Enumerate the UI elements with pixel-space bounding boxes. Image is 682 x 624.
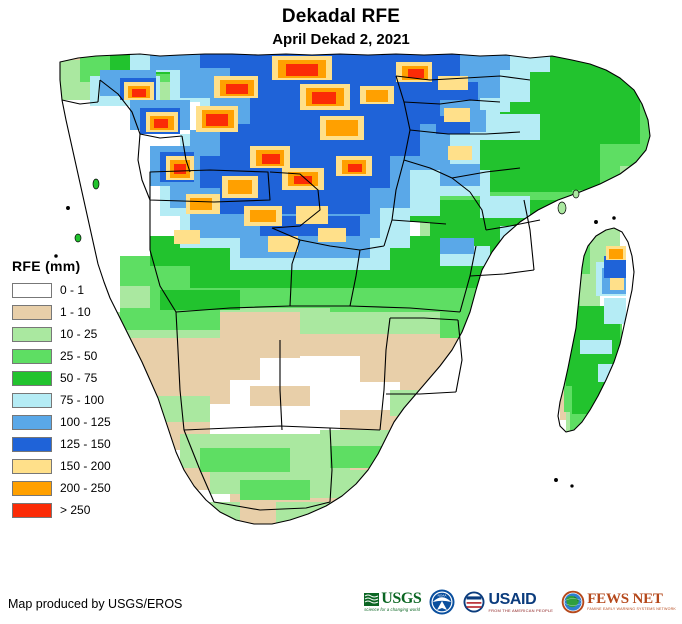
- legend-label-0-1: 0 - 1: [60, 283, 84, 297]
- page-title: Dekadal RFE: [0, 6, 682, 28]
- legend-label-200-250: 200 - 250: [60, 481, 111, 495]
- fews-logo: FEWS NET FAMINE EARLY WARNING SYSTEMS NE…: [561, 587, 676, 617]
- svg-text:NOAA: NOAA: [438, 593, 448, 597]
- usaid-seal-icon: [463, 591, 485, 613]
- legend-label-100-125: 100 - 125: [60, 415, 111, 429]
- legend-label-1-10: 1 - 10: [60, 305, 91, 319]
- globe-icon: [561, 590, 585, 614]
- legend-swatch-10-25: [12, 327, 52, 342]
- fews-logo-tagline: FAMINE EARLY WARNING SYSTEMS NETWORK: [587, 608, 676, 612]
- legend-swatch-100-125: [12, 415, 52, 430]
- usaid-logo-tagline: FROM THE AMERICAN PEOPLE: [488, 609, 553, 613]
- map-credit: Map produced by USGS/EROS: [8, 597, 182, 611]
- legend-item-gt-250: > 250: [8, 500, 138, 520]
- legend-label-gt-250: > 250: [60, 503, 90, 517]
- usaid-logo-text: USAID: [488, 592, 553, 608]
- legend-item-10-25: 10 - 25: [8, 324, 138, 344]
- legend-swatch-0-1: [12, 283, 52, 298]
- title-block: Dekadal RFE April Dekad 2, 2021: [0, 6, 682, 50]
- fews-logo-text: FEWS NET: [587, 592, 676, 607]
- usgs-logo: USGS science for a changing world: [364, 587, 421, 617]
- legend-item-200-250: 200 - 250: [8, 478, 138, 498]
- legend-item-0-1: 0 - 1: [8, 280, 138, 300]
- legend-swatch-50-75: [12, 371, 52, 386]
- legend-item-50-75: 50 - 75: [8, 368, 138, 388]
- noaa-logo: NOAA: [429, 587, 455, 617]
- page-subtitle: April Dekad 2, 2021: [0, 30, 682, 50]
- legend-swatch-1-10: [12, 305, 52, 320]
- legend-item-150-200: 150 - 200: [8, 456, 138, 476]
- legend-swatch-75-100: [12, 393, 52, 408]
- legend-item-25-50: 25 - 50: [8, 346, 138, 366]
- legend-item-125-150: 125 - 150: [8, 434, 138, 454]
- legend-item-75-100: 75 - 100: [8, 390, 138, 410]
- legend-item-1-10: 1 - 10: [8, 302, 138, 322]
- legend-item-100-125: 100 - 125: [8, 412, 138, 432]
- legend-swatch-200-250: [12, 481, 52, 496]
- legend-swatch-125-150: [12, 437, 52, 452]
- usgs-logo-text: USGS: [381, 591, 421, 607]
- usaid-logo: USAID FROM THE AMERICAN PEOPLE: [463, 587, 553, 617]
- legend-label-75-100: 75 - 100: [60, 393, 104, 407]
- noaa-seal-icon: NOAA: [429, 589, 455, 615]
- legend-swatch-gt-250: [12, 503, 52, 518]
- usgs-wave-icon: [364, 593, 379, 606]
- legend-title: RFE (mm): [12, 258, 138, 274]
- legend-swatch-25-50: [12, 349, 52, 364]
- legend-label-125-150: 125 - 150: [60, 437, 111, 451]
- usgs-logo-tagline: science for a changing world: [364, 608, 420, 612]
- legend-label-150-200: 150 - 200: [60, 459, 111, 473]
- legend-label-10-25: 10 - 25: [60, 327, 97, 341]
- legend-label-50-75: 50 - 75: [60, 371, 97, 385]
- logo-bar: USGS science for a changing world NOAA: [364, 585, 676, 619]
- legend: RFE (mm) 0 - 1 1 - 10 10 - 25 25 - 50 50…: [8, 258, 138, 522]
- legend-swatch-150-200: [12, 459, 52, 474]
- legend-label-25-50: 25 - 50: [60, 349, 97, 363]
